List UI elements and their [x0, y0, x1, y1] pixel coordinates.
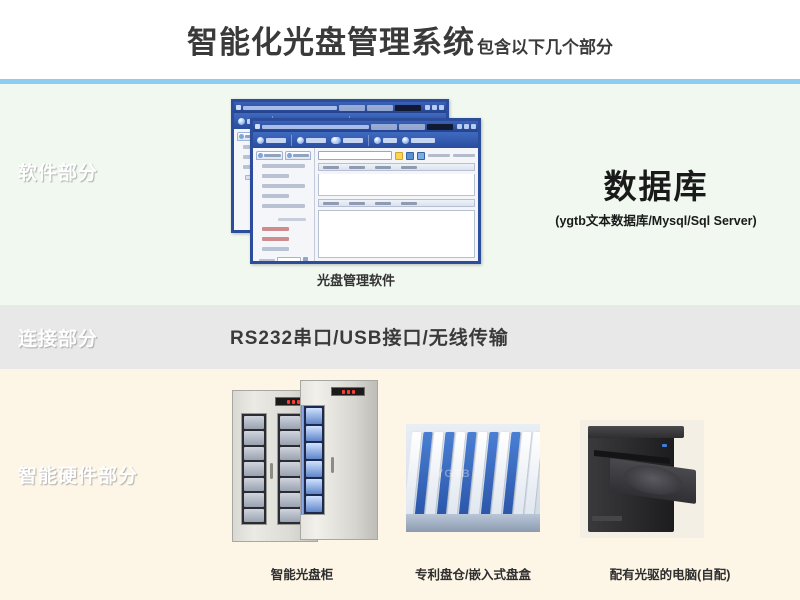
search-meta — [428, 154, 475, 157]
titlebar-chip — [399, 124, 425, 130]
column-header — [401, 202, 417, 205]
picker-icon[interactable] — [303, 257, 308, 264]
column-header — [349, 166, 365, 169]
shelf — [280, 462, 300, 475]
filter-icon[interactable] — [417, 152, 425, 160]
sidebar-note — [278, 218, 306, 221]
titlebar-chip-active — [427, 124, 453, 130]
column-header — [375, 166, 391, 169]
led-segment — [292, 400, 295, 404]
toolbar-button-export[interactable] — [297, 137, 326, 144]
sidebar-field-required — [262, 237, 289, 241]
window-sidebar-front[interactable] — [253, 148, 315, 261]
shelf — [244, 416, 264, 429]
toolbar-button-search[interactable] — [402, 137, 435, 144]
shelf — [244, 447, 264, 460]
titlebar-chip-active — [395, 105, 421, 111]
shelf — [244, 431, 264, 444]
meta-label — [453, 154, 475, 157]
text-input[interactable] — [277, 257, 301, 264]
connection-section-label: 连接部分 — [18, 324, 98, 351]
power-led-icon — [662, 444, 667, 447]
disc-icon — [331, 137, 341, 144]
sidebar-field-required — [262, 227, 289, 231]
column-header — [375, 202, 391, 205]
page-title-subtitle: 包含以下几个部分 — [477, 33, 613, 58]
titlebar-chip — [339, 105, 365, 111]
sidebar-field — [262, 194, 289, 198]
toolbar-label — [383, 138, 397, 143]
tab-label — [264, 154, 281, 157]
meta-label — [428, 154, 450, 157]
shelf — [280, 416, 300, 429]
data-grid-top[interactable] — [318, 174, 475, 196]
hardware-caption-computer: 配有光驱的电脑(自配) — [570, 564, 770, 583]
shelf — [306, 443, 322, 459]
disc-cabinet-photo — [222, 380, 382, 548]
app-icon — [255, 124, 260, 129]
led-segment — [347, 390, 350, 394]
software-section-label: 软件部分 — [18, 158, 98, 185]
hardware-section-label: 智能硬件部分 — [18, 461, 138, 488]
window-toolbar-front[interactable] — [253, 132, 478, 148]
window-controls[interactable] — [457, 124, 476, 129]
cabinet-blue-light — [301, 405, 304, 515]
gear-icon — [374, 137, 381, 144]
shelf — [306, 461, 322, 477]
cabinet-handle — [331, 457, 334, 473]
field-label — [259, 259, 275, 262]
shelf-stack — [280, 416, 300, 522]
database-title: 数据库 — [520, 160, 792, 208]
column-header — [323, 202, 339, 205]
toolbar-label — [343, 138, 363, 143]
window-titlebar-back — [234, 102, 446, 113]
window-body-front — [253, 148, 478, 261]
page-header: 智能化光盘管理系统 包含以下几个部分 — [0, 0, 800, 79]
hardware-caption-tray: 专利盘仓/嵌入式盘盒 — [386, 564, 560, 583]
maximize-icon[interactable] — [464, 124, 469, 129]
page-title: 智能化光盘管理系统 包含以下几个部分 — [187, 17, 613, 62]
tray-base — [406, 514, 540, 532]
maximize-icon[interactable] — [432, 105, 437, 110]
cabinet-handle — [270, 463, 273, 479]
minimize-icon[interactable] — [457, 124, 462, 129]
app-window-front[interactable] — [250, 118, 481, 264]
shelf — [280, 447, 300, 460]
led-segment — [287, 400, 290, 404]
cabinet-led-display — [331, 387, 365, 396]
cabinet-glass-door-left — [241, 413, 267, 525]
shelf — [244, 478, 264, 491]
folder-icon[interactable] — [395, 152, 403, 160]
toolbar-label — [411, 138, 435, 143]
tab-item-disc[interactable] — [285, 151, 312, 160]
export-icon — [297, 137, 304, 144]
database-block: 数据库 (ygtb文本数据库/Mysql/Sql Server) — [520, 160, 792, 229]
shelf — [280, 493, 300, 506]
tab-icon — [239, 134, 244, 139]
app-icon — [236, 105, 241, 110]
software-screenshot-group — [231, 99, 481, 264]
search-icon — [402, 137, 409, 144]
disc-icon — [287, 153, 292, 158]
computer-photo — [580, 420, 704, 538]
sidebar-input-row[interactable] — [259, 257, 308, 264]
window-title-text — [243, 106, 337, 110]
toolbar-button-disc[interactable] — [331, 137, 363, 144]
shelf — [306, 479, 322, 495]
data-grid-header-top — [318, 163, 475, 171]
toolbar-label — [306, 138, 326, 143]
page-title-main: 智能化光盘管理系统 — [187, 17, 475, 62]
toolbar-separator — [291, 135, 292, 146]
pc-top-panel — [588, 426, 684, 438]
toolbar-label — [266, 138, 286, 143]
close-icon[interactable] — [471, 124, 476, 129]
search-bar[interactable] — [318, 151, 475, 160]
toolbar-button-import[interactable] — [257, 137, 286, 144]
tab-label — [293, 154, 310, 157]
sidebar-field — [262, 164, 305, 168]
window-controls[interactable] — [425, 105, 444, 110]
titlebar-chip — [371, 124, 397, 130]
sidebar-field — [262, 174, 289, 178]
software-screenshot-caption: 光盘管理软件 — [231, 270, 481, 289]
window-content-front — [315, 148, 478, 261]
import-icon — [257, 137, 264, 144]
refresh-icon[interactable] — [406, 152, 414, 160]
pc-front-panel — [592, 516, 622, 521]
shelf — [244, 493, 264, 506]
list-icon — [258, 153, 263, 158]
data-grid-header-bottom — [318, 199, 475, 207]
shelf-stack — [306, 408, 322, 512]
window-titlebar-front — [253, 121, 478, 132]
disc-tray-photo: YGTB — [406, 424, 540, 532]
shelf — [306, 426, 322, 442]
column-header — [323, 166, 339, 169]
shelf — [306, 496, 322, 512]
shelf — [306, 408, 322, 424]
shelf-stack — [244, 416, 264, 522]
shelf — [244, 462, 264, 475]
shelf — [280, 509, 300, 522]
connection-methods-text: RS232串口/USB接口/无线传输 — [230, 323, 630, 350]
cabinet-glass-door-lit — [303, 405, 325, 515]
column-header — [401, 166, 417, 169]
led-segment — [352, 390, 355, 394]
tab-item-list[interactable] — [256, 151, 283, 160]
close-icon[interactable] — [439, 105, 444, 110]
toolbar-button-settings[interactable] — [374, 137, 397, 144]
hardware-caption-cabinet: 智能光盘柜 — [222, 564, 382, 583]
titlebar-chip — [367, 105, 393, 111]
sidebar-field — [262, 204, 305, 208]
minimize-icon[interactable] — [425, 105, 430, 110]
sidebar-tabs[interactable] — [256, 151, 311, 160]
shelf — [244, 509, 264, 522]
data-grid-bottom[interactable] — [318, 210, 475, 258]
shelf — [280, 431, 300, 444]
sidebar-field — [262, 184, 305, 188]
shelf — [280, 478, 300, 491]
toolbar-separator — [368, 135, 369, 146]
led-segment — [342, 390, 345, 394]
poster-root: 智能化光盘管理系统 包含以下几个部分 软件部分 — [0, 0, 800, 600]
database-subtitle: (ygtb文本数据库/Mysql/Sql Server) — [520, 210, 792, 229]
cabinet-right — [300, 380, 378, 540]
sidebar-field — [262, 247, 289, 251]
window-title-text — [262, 125, 369, 129]
column-header — [349, 202, 365, 205]
import-icon — [238, 118, 245, 125]
search-input[interactable] — [318, 151, 392, 160]
